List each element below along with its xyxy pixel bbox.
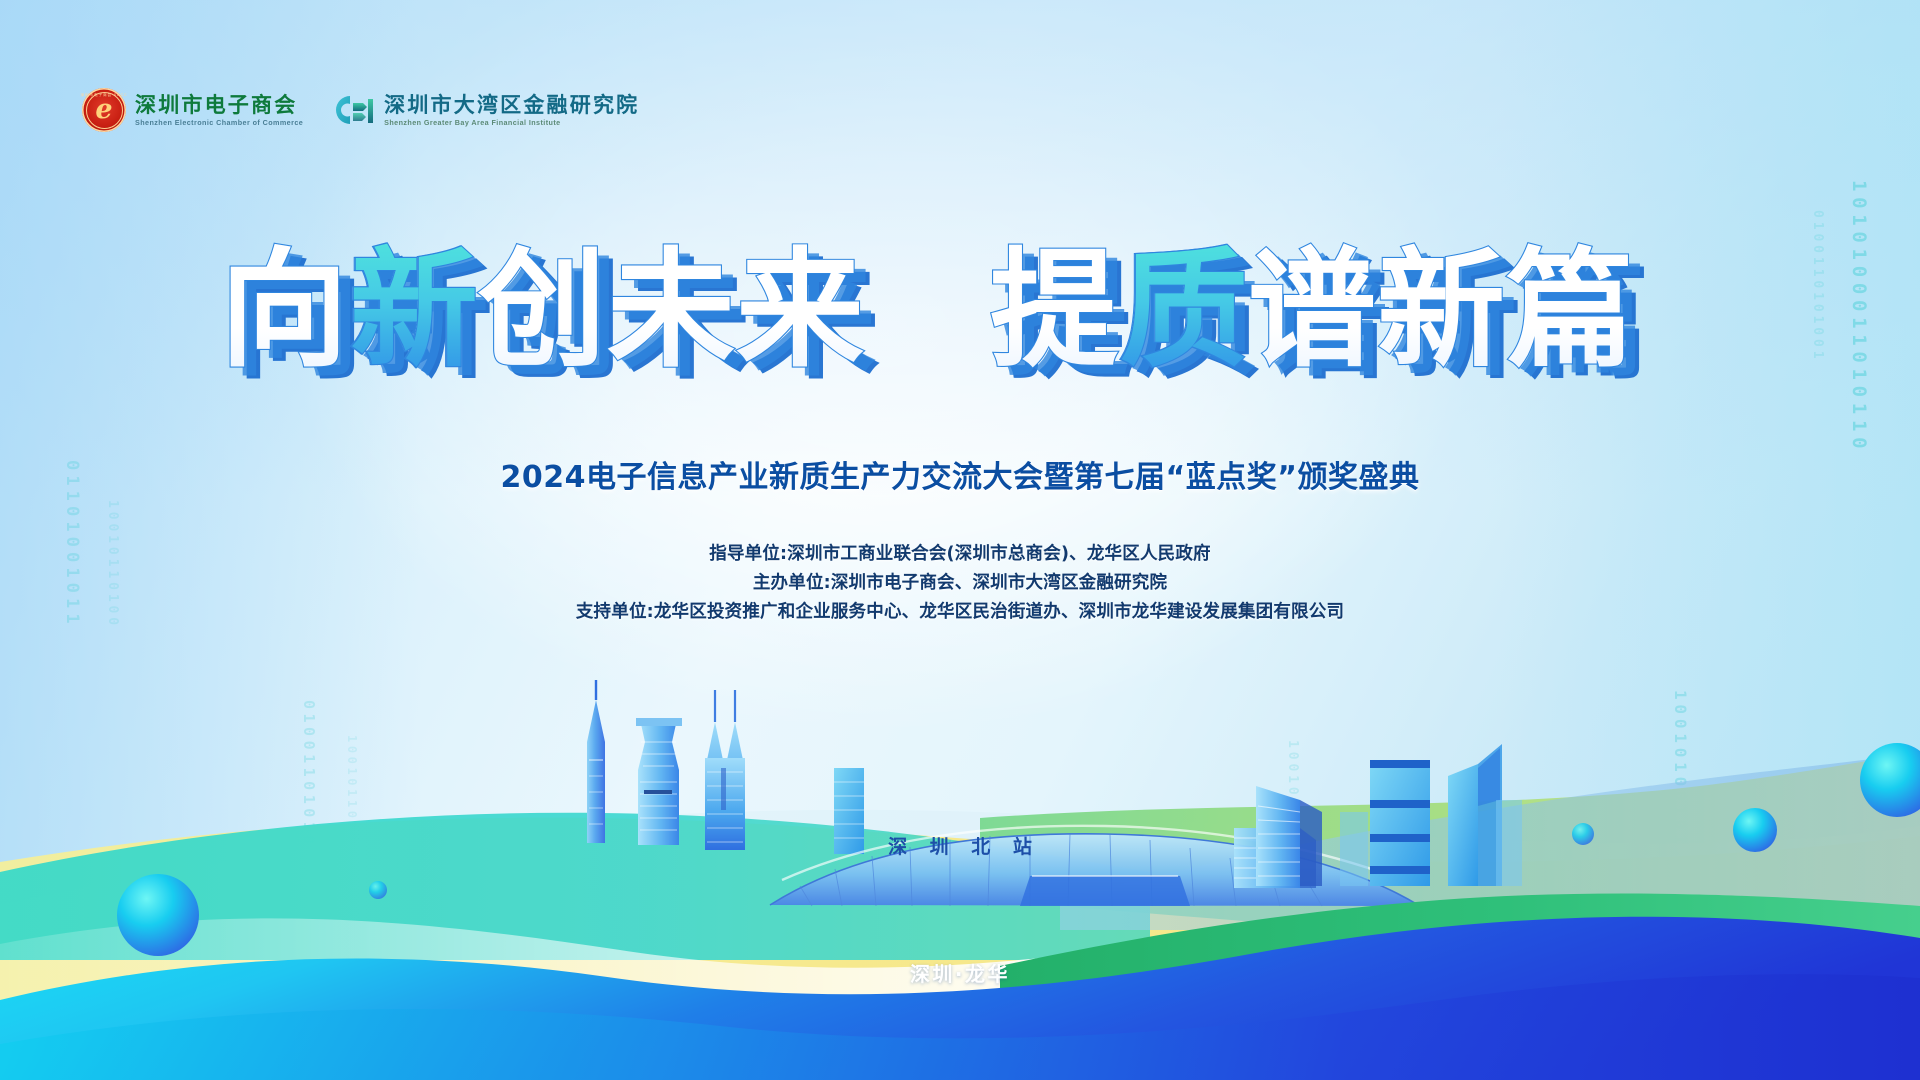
logo-name-en-chamber: Shenzhen Electronic Chamber of Commerce: [135, 118, 303, 127]
sphere-decor-5: [369, 881, 387, 899]
headline-accent-xin: 新: [350, 242, 478, 385]
organizer-line-guidance: 指导单位:深圳市工商业联合会(深圳市总商会)、龙华区人民政府: [0, 540, 1920, 569]
seal-ring-text: 深圳市电子商会 SECC: [81, 93, 128, 98]
logo-name-cn-chamber: 深圳市电子商会: [135, 93, 303, 117]
tower-pingan: [705, 690, 745, 850]
logo-shenzhen-electronic-chamber: 深圳市电子商会 SECC 深圳市电子商会 Shenzhen Electronic…: [82, 88, 303, 132]
logo-name-cn-gbi: 深圳市大湾区金融研究院: [384, 93, 639, 117]
headline-accent-zhi: 质: [1120, 242, 1248, 385]
headline-face-right: 提质谱新篇: [990, 242, 1635, 385]
gbi-monogram-icon: [329, 93, 375, 127]
seal-emblem-icon: 深圳市电子商会 SECC: [82, 88, 126, 132]
logo-bar: 深圳市电子商会 SECC 深圳市电子商会 Shenzhen Electronic…: [82, 88, 639, 132]
headline-svg: 向新创未来 向新创未来 提质谱新篇 提质谱新篇 向新创未来 提质谱新篇 新 质: [220, 242, 1700, 402]
event-subtitle: 2024电子信息产业新质生产力交流大会暨第七届“蓝点奖”颁奖盛典: [0, 452, 1920, 496]
organizer-block: 指导单位:深圳市工商业联合会(深圳市总商会)、龙华区人民政府 主办单位:深圳市电…: [0, 540, 1920, 627]
tower-diwang: [636, 718, 682, 845]
organizer-line-support: 支持单位:龙华区投资推广和企业服务中心、龙华区民治街道办、深圳市龙华建设发展集团…: [0, 598, 1920, 627]
organizer-line-host: 主办单位:深圳市电子商会、深圳市大湾区金融研究院: [0, 569, 1920, 598]
logo-gba-financial-institute: 深圳市大湾区金融研究院 Shenzhen Greater Bay Area Fi…: [329, 93, 639, 128]
sphere-decor-1: [117, 874, 199, 956]
tower-longhua-d: [1448, 744, 1502, 886]
city-label: 深圳·龙华: [0, 958, 1920, 987]
tower-longhua-c: [1370, 760, 1430, 886]
poster-canvas: 1010100011010110 0100110101001 100101001…: [0, 0, 1920, 1080]
tower-kk100: [587, 680, 605, 843]
headline-face-left: 向新创未来: [220, 242, 865, 385]
logo-name-en-gbi: Shenzhen Greater Bay Area Financial Inst…: [384, 118, 639, 127]
station-label: 深 圳 北 站: [0, 832, 1920, 859]
headline-title: 向新创未来 向新创未来 提质谱新篇 提质谱新篇 向新创未来 提质谱新篇 新 质: [0, 242, 1920, 402]
